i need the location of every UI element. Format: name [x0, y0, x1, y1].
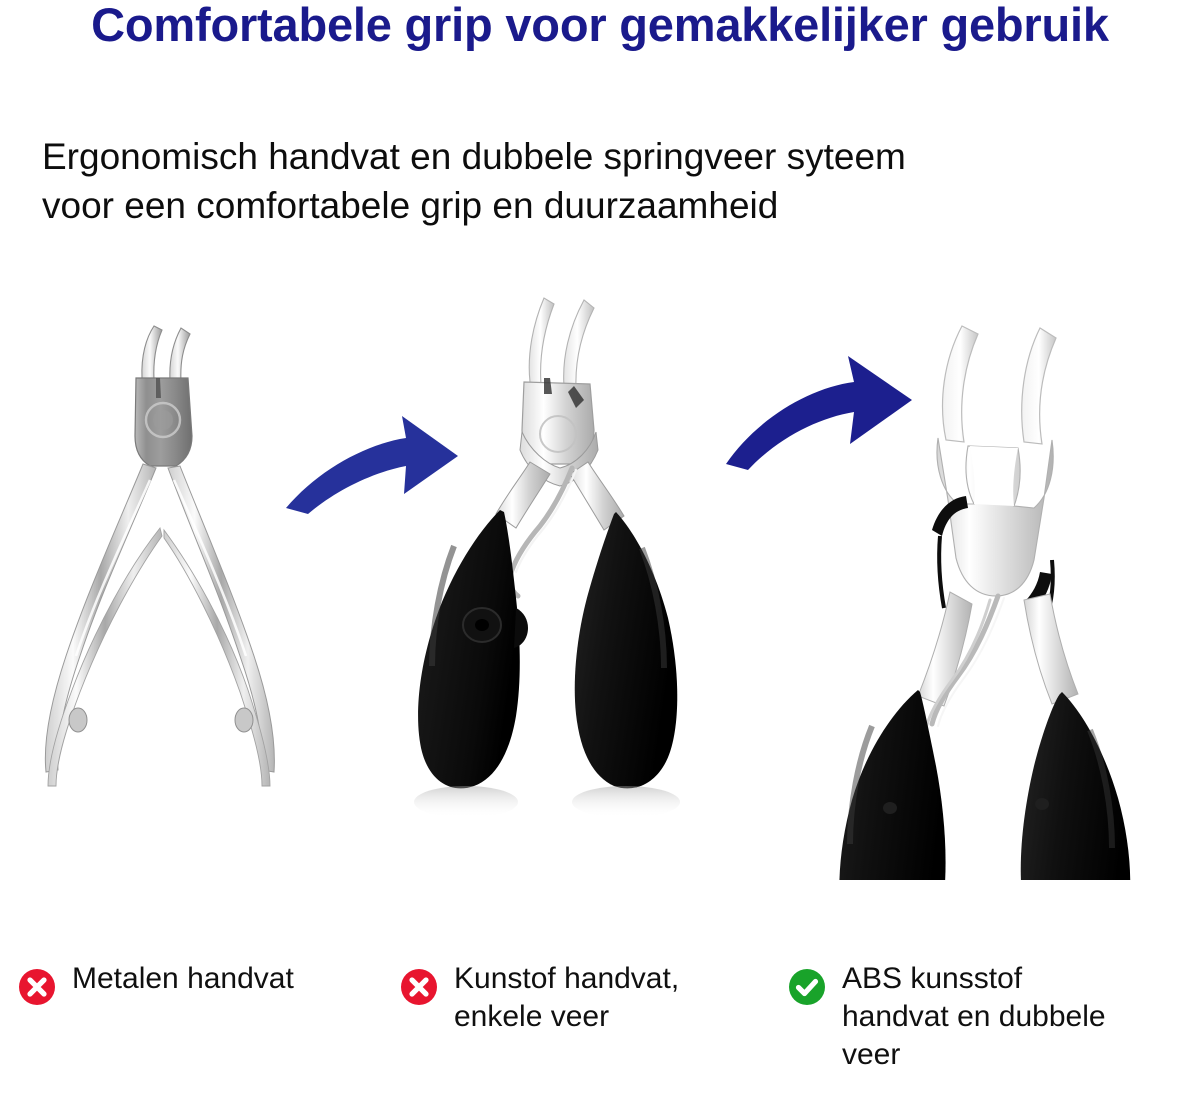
product-image-plastic-nipper	[378, 282, 722, 882]
product-comparison-stage	[0, 250, 1200, 910]
abs-nipper-illustration	[838, 260, 1188, 880]
caption-item-abs-handle: ABS kunsstof handvat en dubbele veer	[788, 960, 1188, 1074]
caption-line: handvat en dubbele	[842, 1000, 1106, 1033]
check-circle-icon	[788, 968, 826, 1006]
cross-circle-glyph	[18, 968, 56, 1006]
caption-text: Kunstof handvat, enkele veer	[454, 960, 679, 1036]
subtitle-block: Ergonomisch handvat en dubbele springvee…	[42, 132, 1132, 230]
caption-row: Metalen handvat Kunstof handvat, enkele …	[0, 960, 1200, 1096]
plastic-nipper-illustration	[378, 282, 722, 882]
product-image-abs-nipper	[838, 260, 1188, 880]
caption-line: Metalen handvat	[72, 962, 294, 995]
caption-line: Kunstof handvat,	[454, 962, 679, 995]
metal-nipper-illustration	[10, 290, 310, 820]
caption-line: veer	[842, 1038, 900, 1071]
subtitle-line-2: voor een comfortabele grip en duurzaamhe…	[42, 181, 1132, 230]
subtitle-line-1: Ergonomisch handvat en dubbele springvee…	[42, 132, 1132, 181]
cross-circle-glyph	[400, 968, 438, 1006]
caption-item-metal-handle: Metalen handvat	[18, 960, 368, 1006]
caption-item-plastic-handle: Kunstof handvat, enkele veer	[400, 960, 760, 1036]
caption-text: Metalen handvat	[72, 960, 294, 998]
check-circle-glyph	[788, 968, 826, 1006]
page-title: Comfortabele grip voor gemakkelijker geb…	[0, 0, 1200, 52]
cross-circle-icon	[400, 968, 438, 1006]
cross-circle-icon	[18, 968, 56, 1006]
caption-line: ABS kunsstof	[842, 962, 1022, 995]
product-infographic-page: Comfortabele grip voor gemakkelijker geb…	[0, 0, 1200, 1096]
product-image-metal-nipper	[10, 290, 310, 820]
caption-text: ABS kunsstof handvat en dubbele veer	[842, 960, 1106, 1074]
caption-line: enkele veer	[454, 1000, 609, 1033]
